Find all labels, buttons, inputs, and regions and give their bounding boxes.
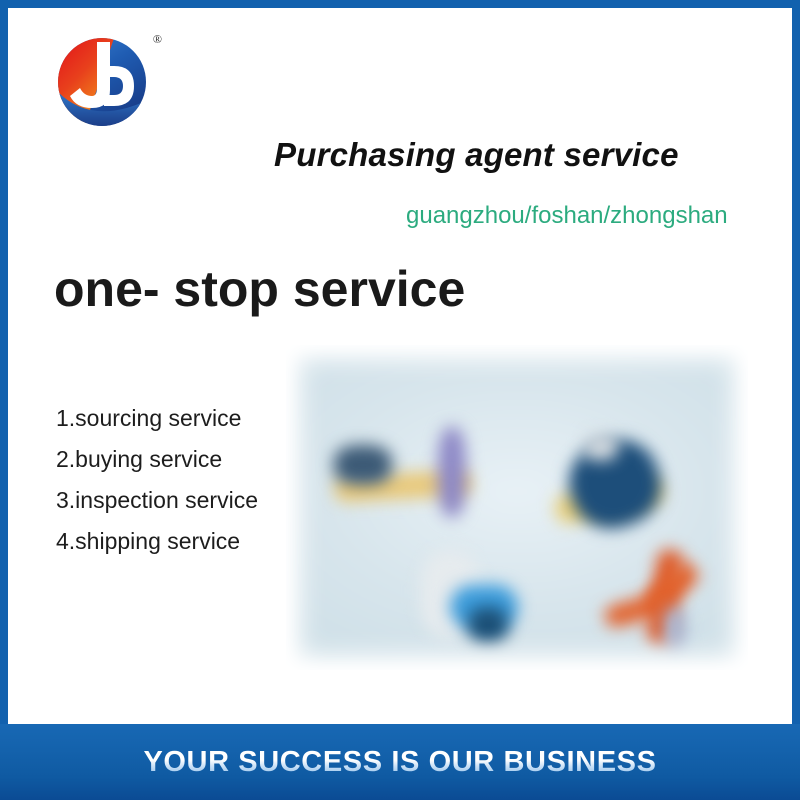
photo-shape-d: [664, 607, 686, 651]
page-subtitle: guangzhou/foshan/zhongshan: [406, 202, 728, 230]
list-item: 2.buying service: [56, 439, 258, 480]
bottom-banner: YOUR SUCCESS IS OUR BUSINESS: [0, 724, 800, 800]
photo-shape-b: [584, 433, 618, 461]
blurred-product-photo: [286, 345, 748, 670]
promo-banner-page: ® Purchasing agent service guangzhou/fos…: [0, 0, 800, 800]
list-item: 3.inspection service: [56, 480, 258, 521]
registered-trademark-icon: ®: [153, 32, 162, 47]
slogan-text: one- stop service: [54, 260, 465, 318]
photo-shape-c: [468, 607, 508, 643]
banner-slogan: YOUR SUCCESS IS OUR BUSINESS: [143, 746, 656, 779]
list-item: 4.shipping service: [56, 521, 258, 562]
frame-border-left: [0, 0, 8, 800]
frame-border-top: [0, 0, 800, 8]
frame-border-right: [792, 0, 800, 800]
logo-mark-icon: [52, 30, 160, 138]
company-logo: ®: [52, 30, 160, 138]
page-title: Purchasing agent service: [274, 136, 679, 174]
list-item: 1.sourcing service: [56, 398, 258, 439]
photo-shape-a: [438, 427, 466, 517]
service-list: 1.sourcing service 2.buying service 3.in…: [56, 398, 258, 562]
photo-shape-a: [334, 445, 392, 485]
